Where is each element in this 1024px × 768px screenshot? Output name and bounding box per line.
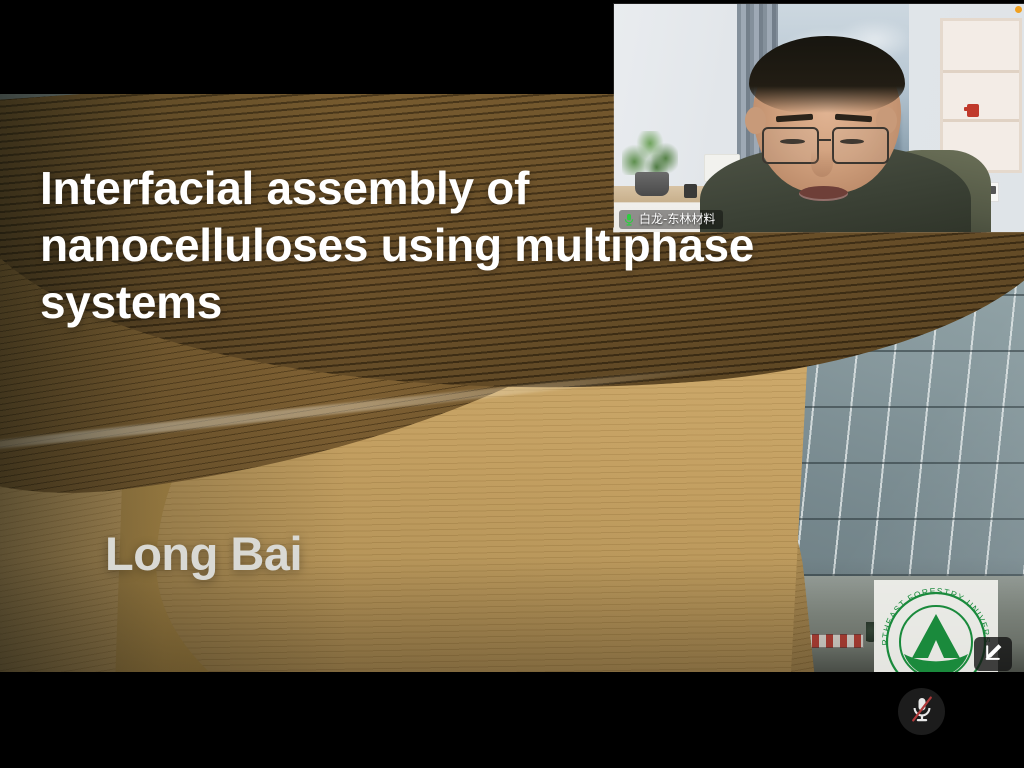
desk-plant-leaves [622, 131, 678, 175]
mute-button[interactable] [898, 688, 945, 735]
recording-dot-icon [1015, 6, 1022, 13]
participant-name-label: 白龙-东林材料 [639, 212, 715, 227]
desk-plant-pot [635, 172, 669, 196]
microphone-on-icon [623, 213, 635, 226]
participant-video-tile[interactable]: 白龙-东林材料 [614, 4, 1024, 232]
eyeglass-bridge [819, 139, 832, 141]
annotate-button[interactable] [974, 637, 1012, 671]
microphone-muted-icon [909, 695, 935, 728]
participant-name-badge: 白龙-东林材料 [619, 210, 723, 229]
pen-annotate-icon [982, 641, 1004, 668]
slide-author-name: Long Bai [105, 526, 302, 581]
participant-mouth [799, 186, 848, 201]
shelf-toy-horse [967, 104, 979, 117]
desk-cup [684, 184, 697, 198]
screen-root: Interfacial assembly of nanocelluloses u… [0, 0, 1024, 768]
eyeglass-lens-right [832, 127, 889, 163]
svg-text:1952: 1952 [925, 661, 947, 670]
